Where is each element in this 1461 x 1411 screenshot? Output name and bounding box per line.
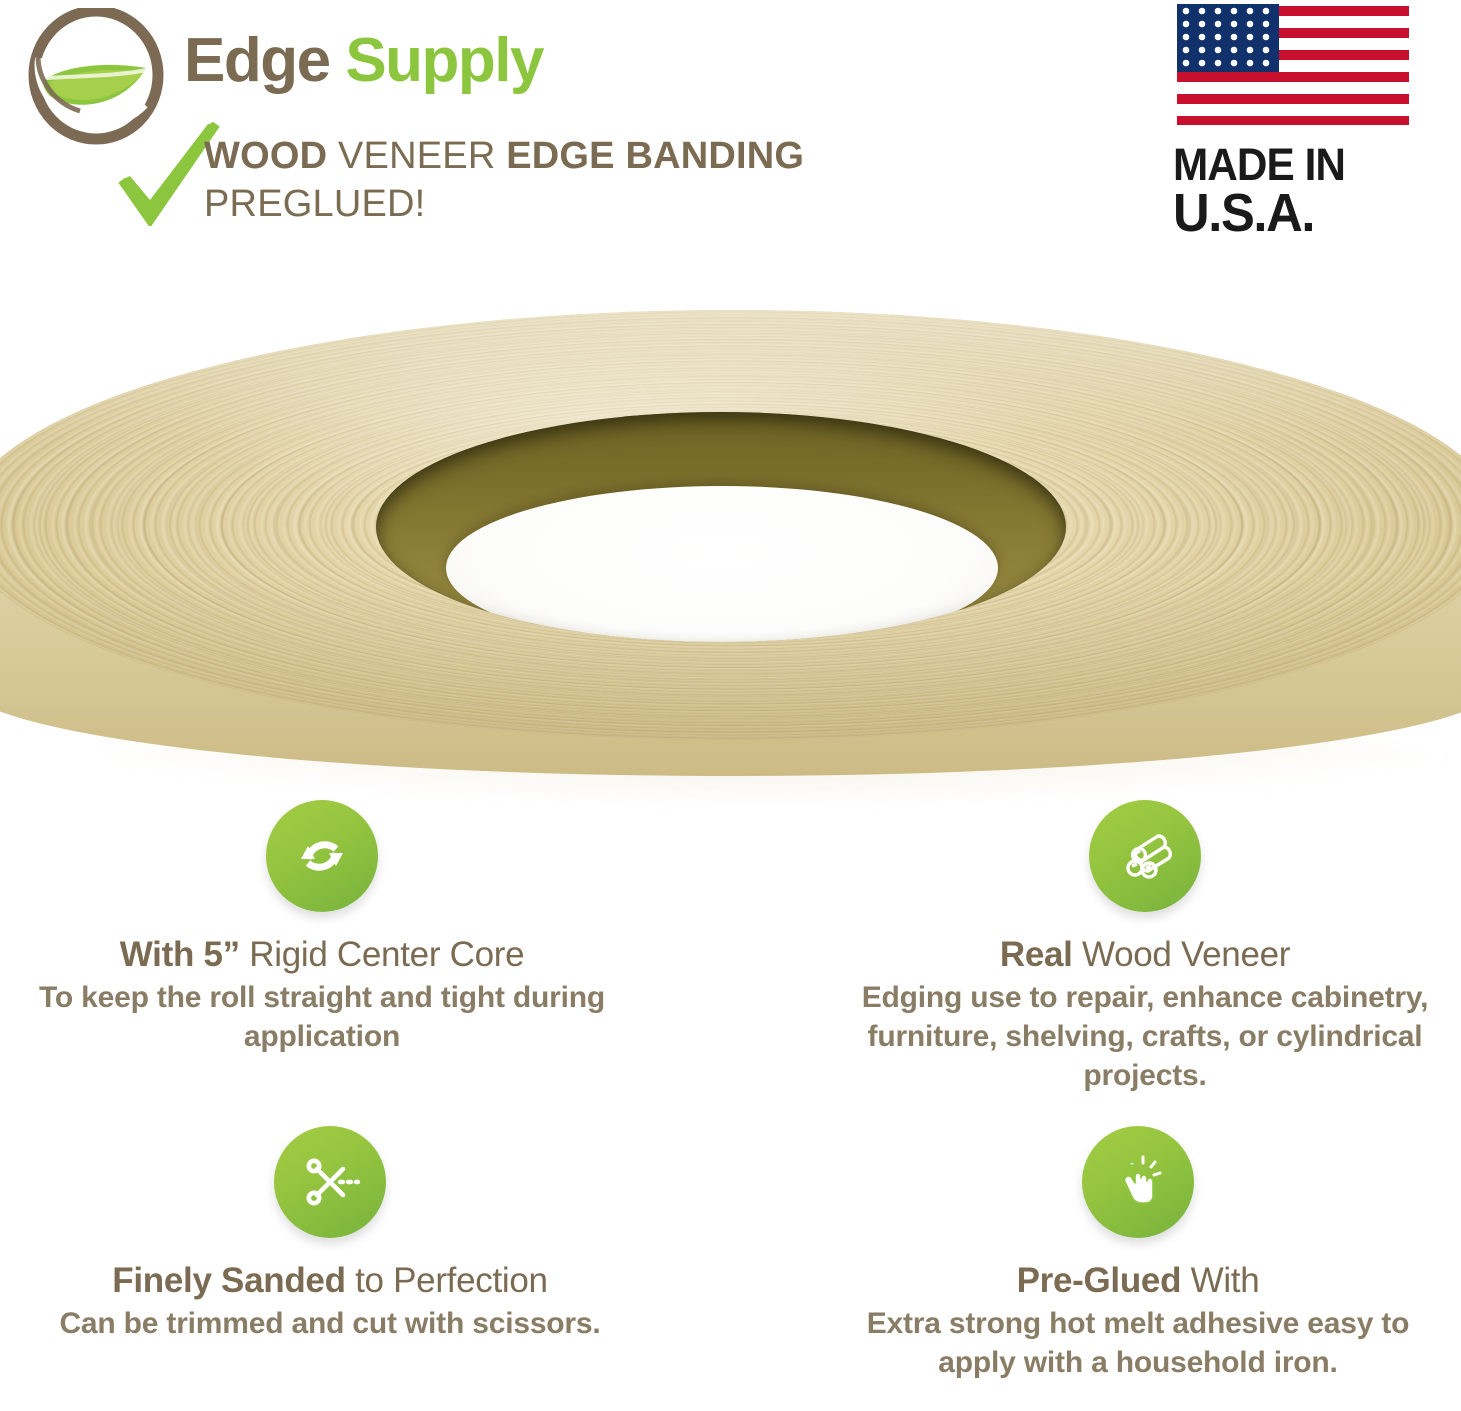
feature-description: Can be trimmed and cut with scissors.	[20, 1304, 640, 1343]
brand-name-edge: Edge	[184, 26, 330, 95]
feature-title-regular: Rigid Center Core	[240, 935, 524, 974]
usa-flag-icon	[1177, 4, 1409, 126]
feature-title-strong: With 5”	[120, 935, 240, 974]
feature-description: To keep the roll straight and tight duri…	[12, 978, 632, 1056]
feature-description: Extra strong hot melt adhesive easy to a…	[828, 1304, 1448, 1382]
refresh-arrows-icon	[266, 800, 378, 912]
wood-veneer-edge-banding-roll-photo	[0, 262, 1461, 822]
feature-title: With 5” Rigid Center Core	[12, 934, 632, 976]
tagline-line-1: WOOD VENEER EDGE BANDING	[204, 134, 934, 179]
scissors-icon	[274, 1126, 386, 1238]
brand-name-supply: Supply	[345, 26, 543, 95]
feature-description: Edging use to repair, enhance cabinetry,…	[835, 978, 1455, 1095]
feature-title-regular: Wood Veneer	[1073, 935, 1291, 974]
feature-pre-glued: Pre-Glued With Extra strong hot melt adh…	[828, 1126, 1448, 1382]
made-in-usa-text: MADE IN U.S.A.	[1173, 140, 1408, 238]
brand-wordmark: Edge Supply	[184, 30, 543, 92]
feature-title: Pre-Glued With	[828, 1260, 1448, 1302]
feature-title-strong: Real	[1000, 935, 1073, 974]
feature-title-strong: Finely Sanded	[112, 1261, 345, 1300]
feature-title-regular: With	[1181, 1261, 1259, 1300]
feature-grid: With 5” Rigid Center Core To keep the ro…	[0, 796, 1461, 1411]
veneer-roll	[0, 310, 1461, 780]
feature-title-regular: to Perfection	[346, 1261, 548, 1300]
feature-finely-sanded: Finely Sanded to Perfection Can be trimm…	[20, 1126, 640, 1343]
stacked-logs-icon	[1089, 800, 1201, 912]
tagline-line-2: PREGLUED!	[204, 179, 934, 229]
made-in-usa-badge: MADE IN U.S.A.	[1151, 4, 1443, 254]
tagline-veneer: VENEER	[327, 135, 506, 177]
brand-block: Edge Supply WOOD VENEER EDGE BANDING PRE…	[14, 4, 934, 254]
usa-line: U.S.A.	[1173, 189, 1408, 238]
tagline: WOOD VENEER EDGE BANDING PREGLUED!	[204, 134, 934, 229]
feature-title: Real Wood Veneer	[835, 934, 1455, 976]
made-in-line: MADE IN	[1173, 140, 1408, 189]
feature-rigid-center-core: With 5” Rigid Center Core To keep the ro…	[12, 800, 632, 1056]
feature-title-strong: Pre-Glued	[1017, 1261, 1182, 1300]
roll-center-hole	[446, 486, 998, 642]
feature-real-wood-veneer: Real Wood Veneer Edging use to repair, e…	[835, 800, 1455, 1095]
tagline-edge-banding: EDGE BANDING	[506, 135, 804, 177]
feature-title: Finely Sanded to Perfection	[20, 1260, 640, 1302]
roll-cardboard-core	[376, 412, 1066, 642]
header: Edge Supply WOOD VENEER EDGE BANDING PRE…	[0, 0, 1461, 270]
pointing-hand-tap-icon	[1082, 1126, 1194, 1238]
tagline-wood: WOOD	[204, 135, 327, 177]
product-marketing-image: Edge Supply WOOD VENEER EDGE BANDING PRE…	[0, 0, 1461, 1411]
